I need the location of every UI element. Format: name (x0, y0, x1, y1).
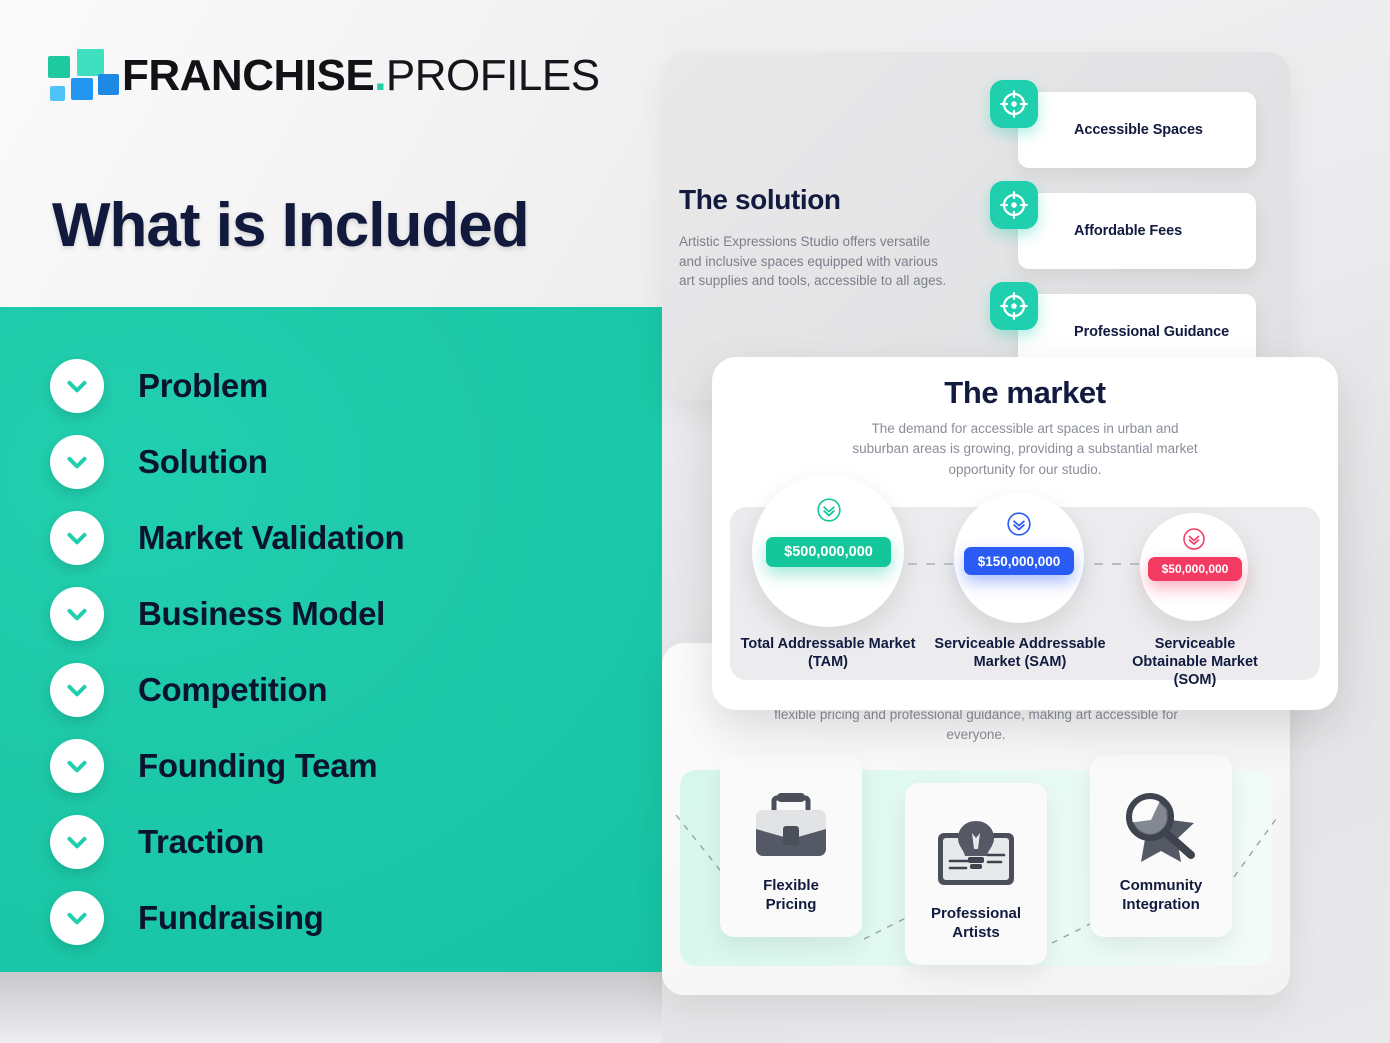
traction-card-flexible-pricing[interactable]: Flexible Pricing (720, 755, 862, 937)
logo-word-bold: FRANCHISE (122, 51, 374, 100)
brand-logo[interactable]: FRANCHISE.PROFILES (46, 48, 600, 104)
agenda-item-traction[interactable]: Traction (50, 804, 610, 880)
crosshair-icon (990, 80, 1038, 128)
agenda-item-competition[interactable]: Competition (50, 652, 610, 728)
logo-squares-icon (46, 48, 108, 104)
page-title: What is Included (52, 190, 529, 261)
lightbulb-board-icon (933, 809, 1019, 901)
market-segments: $500,000,000 $150,000,000 $50,000,000 To… (712, 475, 1338, 710)
traction-card-label-line1: Professional (931, 905, 1021, 922)
agenda-item-market-validation[interactable]: Market Validation (50, 500, 610, 576)
traction-card-label: Flexible Pricing (763, 877, 819, 915)
agenda-item-label: Market Validation (138, 519, 404, 557)
solution-title: The solution (679, 184, 841, 216)
chevron-down-icon[interactable] (50, 815, 104, 869)
market-label-sam: Serviceable Addressable Market (SAM) (934, 635, 1106, 671)
traction-card-label: Professional Artists (931, 905, 1021, 943)
agenda-item-label: Traction (138, 823, 264, 861)
feature-label: Professional Guidance (1074, 324, 1229, 340)
chevron-down-icon[interactable] (50, 359, 104, 413)
agenda-item-label: Competition (138, 671, 327, 709)
traction-card-label-line2: Integration (1122, 896, 1200, 913)
feature-label: Accessible Spaces (1074, 122, 1203, 138)
solution-description: Artistic Expressions Studio offers versa… (679, 232, 951, 291)
traction-card-label-line1: Flexible (763, 877, 819, 894)
market-label-tam: Total Addressable Market (TAM) (738, 635, 918, 671)
feature-card[interactable]: Affordable Fees (1018, 193, 1256, 269)
traction-card-professional-artists[interactable]: Professional Artists (905, 783, 1047, 965)
agenda-item-label: Solution (138, 443, 268, 481)
star-magnifier-icon (1115, 781, 1207, 873)
market-description: The demand for accessible art spaces in … (845, 419, 1205, 480)
traction-description: flexible pricing and professional guidan… (761, 705, 1191, 746)
market-value-som: $50,000,000 (1148, 557, 1242, 581)
solution-panel: The solution Artistic Expressions Studio… (665, 52, 1290, 400)
double-chevron-down-icon (1182, 527, 1206, 556)
market-card: The market The demand for accessible art… (712, 357, 1338, 710)
chevron-down-icon[interactable] (50, 435, 104, 489)
agenda-list: Problem Solution Market Validation Busin… (50, 348, 610, 956)
logo-wordmark: FRANCHISE.PROFILES (122, 51, 600, 101)
traction-card-community-integration[interactable]: Community Integration (1090, 755, 1232, 937)
market-connector-1 (908, 563, 962, 565)
chevron-down-icon[interactable] (50, 891, 104, 945)
logo-dot: . (374, 51, 386, 100)
chevron-down-icon[interactable] (50, 739, 104, 793)
feature-card[interactable]: Accessible Spaces (1018, 92, 1256, 168)
chevron-down-icon[interactable] (50, 663, 104, 717)
agenda-item-problem[interactable]: Problem (50, 348, 610, 424)
solution-feature-accessible-spaces[interactable]: Accessible Spaces (990, 80, 1280, 181)
agenda-item-fundraising[interactable]: Fundraising (50, 880, 610, 956)
traction-card-label-line1: Community (1120, 877, 1203, 894)
agenda-item-label: Founding Team (138, 747, 377, 785)
market-connector-2 (1094, 563, 1146, 565)
double-chevron-down-icon (816, 497, 842, 528)
market-value-tam: $500,000,000 (766, 537, 891, 567)
traction-card-label-line2: Artists (952, 924, 1000, 941)
market-title: The market (712, 375, 1338, 411)
logo-word-light: PROFILES (386, 51, 600, 100)
traction-card-list: Flexible Pricing (720, 755, 1240, 985)
traction-card-label-line2: Pricing (766, 896, 817, 913)
market-label-som: Serviceable Obtainable Market (SOM) (1124, 635, 1266, 689)
agenda-item-label: Business Model (138, 595, 385, 633)
crosshair-icon (990, 181, 1038, 229)
feature-label: Affordable Fees (1074, 223, 1182, 239)
double-chevron-down-icon (1006, 511, 1032, 542)
crosshair-icon (990, 282, 1038, 330)
agenda-item-label: Fundraising (138, 899, 324, 937)
market-value-sam: $150,000,000 (964, 547, 1074, 575)
briefcase-icon (749, 781, 833, 873)
traction-card-label: Community Integration (1120, 877, 1203, 915)
agenda-item-business-model[interactable]: Business Model (50, 576, 610, 652)
solution-feature-affordable-fees[interactable]: Affordable Fees (990, 181, 1280, 282)
agenda-item-label: Problem (138, 367, 268, 405)
chevron-down-icon[interactable] (50, 587, 104, 641)
chevron-down-icon[interactable] (50, 511, 104, 565)
solution-feature-list: Accessible Spaces Affordable Fees (990, 80, 1280, 383)
agenda-item-solution[interactable]: Solution (50, 424, 610, 500)
agenda-item-founding-team[interactable]: Founding Team (50, 728, 610, 804)
footer-strip (0, 972, 662, 1043)
